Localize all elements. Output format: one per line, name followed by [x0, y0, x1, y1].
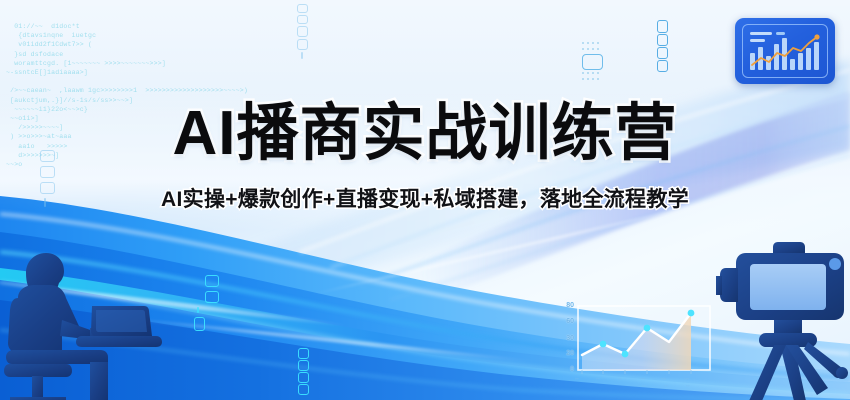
chart-xtick-label: ▫▫▫	[661, 376, 667, 381]
decor-rounded-square	[657, 20, 668, 33]
chart-svg	[556, 302, 716, 394]
decor-rounded-square	[298, 384, 309, 395]
decor-rounded-square	[657, 47, 668, 59]
chart-xtick-label: ▫▫	[686, 383, 690, 388]
decor-rounded-square	[298, 348, 309, 359]
chart-xtick-label: ▫▫	[664, 383, 668, 388]
decor-rounded-square	[205, 291, 219, 303]
logo-badge-frame	[742, 24, 828, 78]
decor-rounded-square	[298, 372, 309, 383]
decor-rounded-square	[298, 360, 309, 371]
decor-rounded-square	[297, 39, 308, 50]
camera-on-tripod-silhouette	[716, 238, 850, 400]
decor-rounded-square	[657, 60, 668, 72]
chart-ytick-label: 30	[556, 335, 574, 342]
chart-xtick-label: ▫▫	[642, 383, 646, 388]
chart-ytick-label: 20	[556, 350, 574, 357]
chart-xtick-label: ▫▫	[618, 376, 622, 381]
chart-xtick-label: ▫▫▫	[684, 376, 690, 381]
decor-rounded-square	[297, 4, 308, 13]
decor-vertical-bar	[197, 307, 199, 313]
growth-line-chart: 80 60 30 20 0 ▫▫ ▫▫ ▫▫ ▫▫▫ ▫▫▫ ▫▫▫ ▫▫ ▫▫…	[556, 302, 716, 394]
decor-rounded-square	[297, 26, 308, 37]
decor-rounded-square	[194, 317, 205, 331]
page-title: AI播商实战训练营	[0, 98, 850, 170]
analytics-dashboard-icon	[735, 18, 835, 84]
decor-vertical-bar	[301, 52, 303, 59]
decor-rounded-square	[657, 34, 668, 46]
chart-xtick-label: ▫▫	[575, 376, 579, 381]
course-promo-banner: 01://~~ d1doc*t {dtavs1nqne iuetgc v01id…	[0, 0, 850, 400]
decor-rounded-square	[205, 275, 219, 287]
decor-rounded-square	[582, 54, 603, 70]
chart-ytick-label: 80	[556, 302, 574, 309]
chart-ytick-label: 0	[556, 366, 574, 373]
chart-xtick-label: ▫▫	[596, 376, 600, 381]
person-with-laptop-silhouette	[4, 240, 164, 400]
chart-ytick-label: 60	[556, 318, 574, 325]
page-subtitle: AI实操+爆款创作+直播变现+私域搭建，落地全流程教学	[0, 186, 850, 214]
decor-rounded-square	[297, 15, 308, 24]
chart-xtick-label: ▫▫▫	[640, 376, 646, 381]
